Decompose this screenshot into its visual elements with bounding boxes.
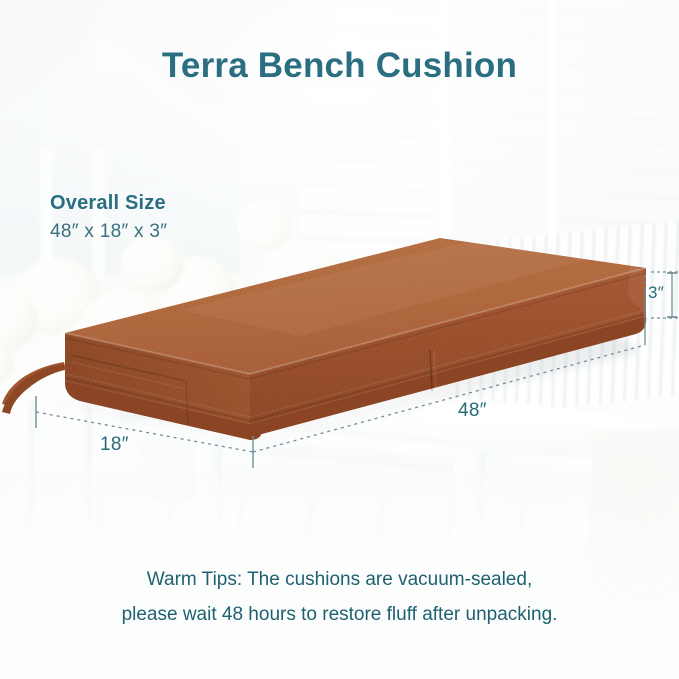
- warm-tips: Warm Tips: The cushions are vacuum-seale…: [0, 562, 679, 632]
- page-title: Terra Bench Cushion: [0, 46, 679, 86]
- warm-tips-line-1: Warm Tips: The cushions are vacuum-seale…: [0, 562, 679, 597]
- product-infographic: Terra Bench Cushion Overall Size 48″ x 1…: [0, 0, 679, 679]
- dimension-label-length: 48″: [458, 400, 487, 422]
- dimension-label-thickness: 3″: [648, 283, 664, 303]
- overall-size-label: Overall Size: [50, 192, 167, 215]
- dimension-label-width: 18″: [100, 434, 129, 456]
- overall-size-value: 48″ x 18″ x 3″: [50, 221, 167, 243]
- overall-size-block: Overall Size 48″ x 18″ x 3″: [50, 192, 167, 243]
- warm-tips-line-2: please wait 48 hours to restore fluff af…: [0, 597, 679, 632]
